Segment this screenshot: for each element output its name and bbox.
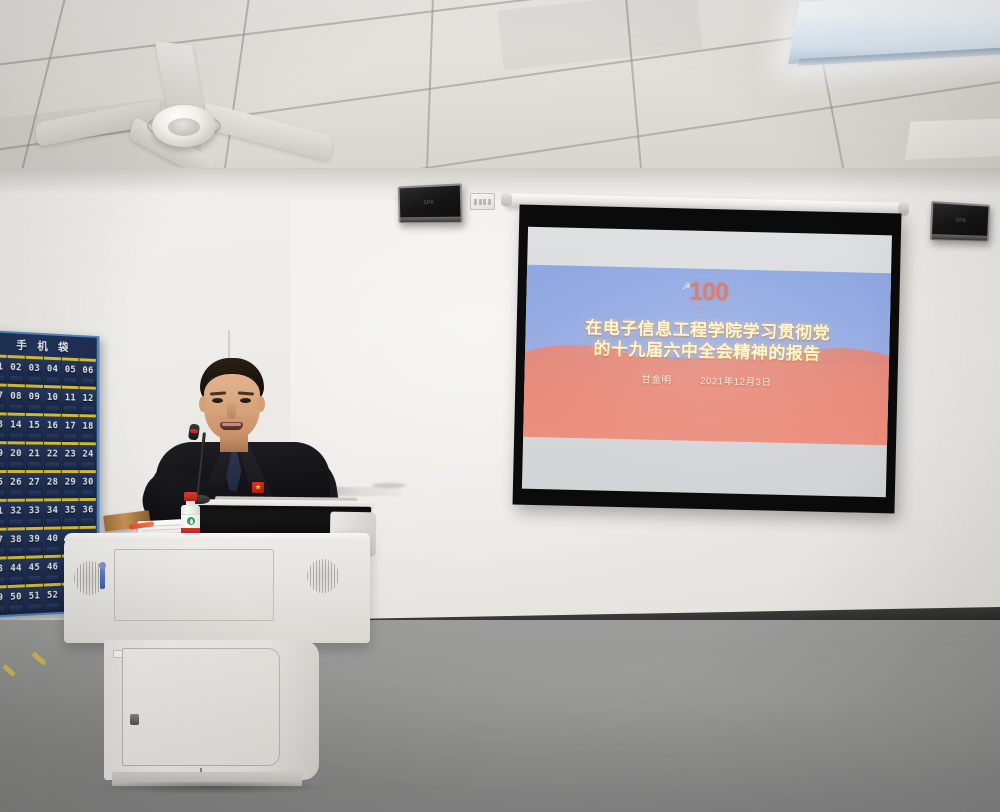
pocket-slot[interactable]: 37 <box>0 528 6 557</box>
pocket-slot[interactable]: 13 <box>0 412 6 441</box>
pocket-number: 27 <box>29 477 40 488</box>
pocket-number: 49 <box>0 592 3 604</box>
pocket-number: 50 <box>10 591 22 602</box>
header-char-1: 手 <box>16 337 28 353</box>
presenter-eye-right <box>240 398 251 403</box>
speaker-bottom-lip-right <box>932 234 987 241</box>
pocket-slot[interactable]: 12 <box>80 386 96 414</box>
pocket-number: 18 <box>83 421 94 432</box>
pocket-slot[interactable]: 34 <box>44 498 61 527</box>
slide-date: 2021年12月3日 <box>700 376 772 389</box>
pocket-row: 010203040506 <box>0 354 97 387</box>
pocket-slot[interactable]: 33 <box>26 498 43 527</box>
pocket-number: 09 <box>29 391 40 402</box>
pocket-slot[interactable]: 38 <box>7 527 24 556</box>
pocket-slot[interactable]: 30 <box>80 470 96 498</box>
pocket-slot[interactable]: 25 <box>0 470 6 499</box>
pocket-slot[interactable]: 20 <box>7 441 24 470</box>
pocket-slot[interactable]: 16 <box>44 413 61 442</box>
pocket-slot[interactable]: 05 <box>62 357 79 386</box>
pocket-number: 26 <box>10 477 22 488</box>
pocket-number: 03 <box>29 363 40 374</box>
pocket-number: 06 <box>83 365 94 376</box>
pocket-slot[interactable]: 11 <box>62 386 79 415</box>
bottle-cap <box>184 492 197 501</box>
presenter-ear-left <box>199 396 207 412</box>
wall-ceiling-shadow <box>0 168 1000 194</box>
pocket-number: 01 <box>0 361 3 372</box>
pocket-number: 37 <box>0 535 3 546</box>
pocket-number: 05 <box>65 364 76 375</box>
pocket-number: 16 <box>47 420 58 431</box>
pocket-row: 252627282930 <box>0 470 97 499</box>
pocket-slot[interactable]: 15 <box>26 413 43 442</box>
pocket-slot[interactable]: 14 <box>7 412 24 441</box>
wall-speaker-right: SPK <box>930 201 991 242</box>
pocket-number: 23 <box>65 449 76 460</box>
pocket-number: 43 <box>0 563 3 574</box>
pocket-slot[interactable]: 24 <box>80 442 96 470</box>
pocket-number: 33 <box>29 505 40 516</box>
pocket-number: 22 <box>47 449 58 460</box>
screen-surface: 100 ☭ 1921 - 2021 在电子信息工程学院学习贯彻党 的十九届六中全… <box>522 227 892 498</box>
pocket-slot[interactable]: 04 <box>44 357 61 386</box>
pocket-slot[interactable]: 22 <box>44 442 61 470</box>
header-char-3: 袋 <box>58 339 70 355</box>
pocket-slot[interactable]: 36 <box>80 498 96 526</box>
presentation-slide: 100 ☭ 1921 - 2021 在电子信息工程学院学习贯彻党 的十九届六中全… <box>523 265 891 446</box>
pocket-slot[interactable]: 28 <box>44 470 61 498</box>
pocket-number: 52 <box>47 590 58 601</box>
pocket-number: 15 <box>29 420 40 431</box>
podium-top-body <box>64 533 370 643</box>
pocket-number: 30 <box>83 477 94 488</box>
ceiling-tile-bright <box>905 118 1000 159</box>
pocket-slot[interactable]: 51 <box>26 584 43 613</box>
wall-scuff-mark-2 <box>372 483 406 488</box>
pocket-slot[interactable]: 01 <box>0 354 6 384</box>
slide-title: 在电子信息工程学院学习贯彻党 的十九届六中全会精神的报告 <box>525 316 890 367</box>
pocket-slot[interactable]: 52 <box>44 583 61 612</box>
pocket-number: 45 <box>29 562 40 573</box>
pocket-slot[interactable]: 35 <box>62 498 79 526</box>
pocket-number: 19 <box>0 448 3 459</box>
cpc-centenary-emblem: 100 ☭ 1921 - 2021 <box>671 279 746 308</box>
pocket-number: 17 <box>65 421 76 432</box>
pocket-slot[interactable]: 19 <box>0 441 6 470</box>
pocket-slot[interactable]: 02 <box>7 355 24 384</box>
pocket-slot[interactable]: 39 <box>26 527 43 556</box>
pocket-slot[interactable]: 21 <box>26 441 43 470</box>
pocket-slot[interactable]: 17 <box>62 414 79 442</box>
pocket-number: 24 <box>83 449 94 460</box>
pocket-slot[interactable]: 10 <box>44 385 61 414</box>
pocket-number: 10 <box>47 392 58 403</box>
pocket-number: 35 <box>65 505 76 516</box>
podium-speaker-grille-right <box>307 559 339 593</box>
slide-presenter: 甘金明 <box>641 374 672 386</box>
header-char-2: 机 <box>37 338 49 354</box>
projection-screen: 100 ☭ 1921 - 2021 在电子信息工程学院学习贯彻党 的十九届六中全… <box>513 205 902 514</box>
pocket-number: 39 <box>29 534 40 545</box>
pocket-slot[interactable]: 49 <box>0 585 6 615</box>
pocket-number: 40 <box>47 533 58 544</box>
pocket-slot[interactable]: 06 <box>80 358 96 387</box>
pocket-number: 25 <box>0 477 3 488</box>
pocket-number: 46 <box>47 562 58 573</box>
pocket-number: 28 <box>47 477 58 488</box>
pocket-slot[interactable]: 43 <box>0 556 6 586</box>
pocket-number: 34 <box>47 505 58 516</box>
pocket-slot[interactable]: 26 <box>7 470 24 499</box>
pocket-number: 20 <box>10 448 22 459</box>
presenter-ear-right <box>257 396 265 412</box>
pocket-number: 21 <box>29 448 40 459</box>
pocket-number: 36 <box>83 505 94 516</box>
party-emblem-pin <box>252 482 264 493</box>
pocket-slot[interactable]: 44 <box>7 556 24 585</box>
pocket-number: 31 <box>0 506 3 517</box>
pocket-slot[interactable]: 18 <box>80 414 96 442</box>
podium-floor-shadow <box>100 782 325 794</box>
pocket-number: 32 <box>10 506 22 517</box>
pocket-row: 313233343536 <box>0 498 97 528</box>
pocket-row: 131415161718 <box>0 412 97 442</box>
pocket-number: 14 <box>10 420 22 431</box>
pocket-slot[interactable]: 31 <box>0 499 6 528</box>
pocket-number: 13 <box>0 419 3 430</box>
pocket-number: 04 <box>47 364 58 375</box>
pocket-slot[interactable]: 40 <box>44 526 61 555</box>
pocket-slot[interactable]: 32 <box>7 499 24 528</box>
speaker-bottom-lip <box>400 217 460 223</box>
pocket-row: 070809101112 <box>0 383 97 415</box>
cabinet-handle-icon[interactable] <box>130 714 139 725</box>
speaker-brand-logo-right: SPK <box>955 217 966 224</box>
pocket-slot[interactable]: 29 <box>62 470 79 498</box>
pocket-slot[interactable]: 50 <box>7 584 24 614</box>
pocket-number: 44 <box>10 563 22 574</box>
pocket-slot[interactable]: 27 <box>26 470 43 499</box>
pocket-number: 11 <box>65 392 76 403</box>
pocket-slot[interactable]: 46 <box>44 555 61 584</box>
speaker-brand-logo: SPK <box>423 199 434 205</box>
ceiling-fan-icon <box>100 55 340 165</box>
podium-latch[interactable] <box>100 567 105 589</box>
presenter-face-shading <box>204 416 260 440</box>
presenter-eye-left <box>212 398 223 403</box>
bottle-leaf-logo <box>187 517 195 525</box>
pocket-slot[interactable]: 08 <box>7 384 24 413</box>
hammer-sickle-icon: ☭ <box>681 281 692 292</box>
pocket-slot[interactable]: 23 <box>62 442 79 470</box>
wall-switch-plate[interactable] <box>470 193 495 210</box>
podium-base-cabinet <box>104 640 319 780</box>
pocket-row: 192021222324 <box>0 441 97 470</box>
pocket-number: 51 <box>29 591 40 602</box>
pocket-slot[interactable]: 09 <box>26 384 43 413</box>
pocket-slot[interactable]: 07 <box>0 383 6 412</box>
pocket-slot[interactable]: 45 <box>26 555 43 584</box>
pocket-number: 38 <box>10 534 22 545</box>
pocket-number: 07 <box>0 390 3 401</box>
pocket-number: 08 <box>10 391 22 402</box>
podium-front-panel <box>114 549 274 621</box>
lecture-hall-photo: 手 机 袋 0102030405060708091011121314151617… <box>0 0 1000 812</box>
wall-speaker-left: SPK <box>398 183 463 223</box>
pocket-number: 29 <box>65 477 76 488</box>
pocket-number: 02 <box>10 362 22 373</box>
podium-cabinet-door[interactable] <box>122 648 280 766</box>
pocket-slot[interactable]: 03 <box>26 356 43 385</box>
ceiling <box>0 0 1000 178</box>
pocket-number: 12 <box>83 393 94 404</box>
